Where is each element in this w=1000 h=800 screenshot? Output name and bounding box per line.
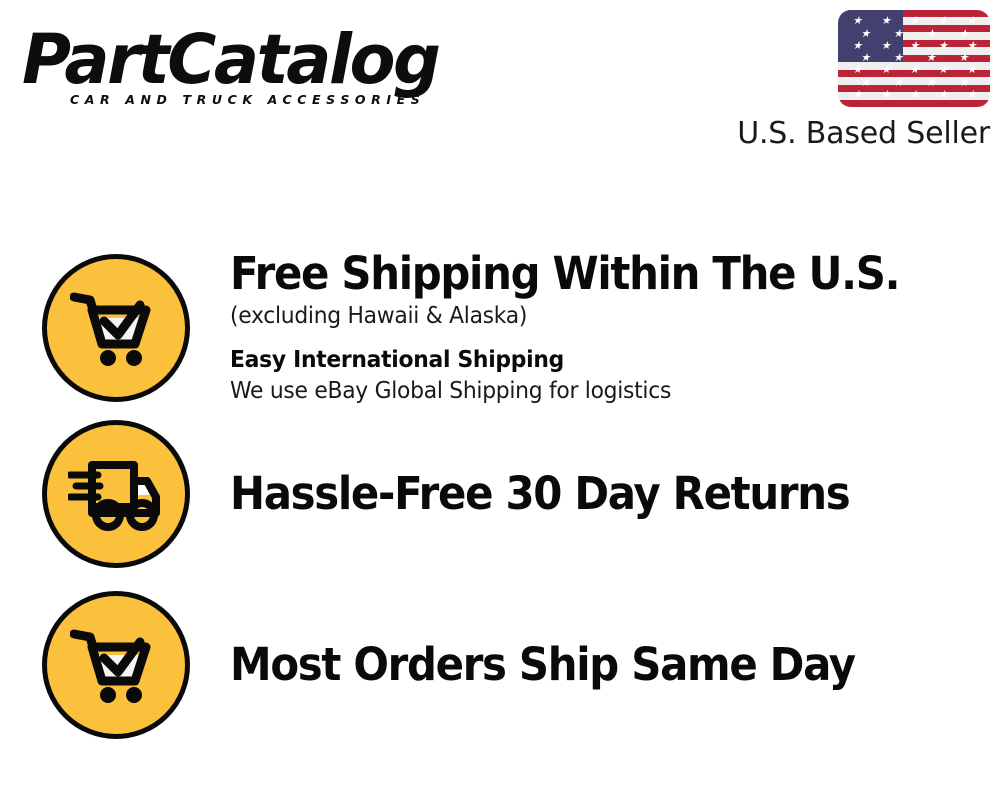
benefit-subtitle-strong: Easy International Shipping xyxy=(230,345,935,376)
shopping-cart-check-icon xyxy=(42,254,190,402)
benefit-row: Free Shipping Within The U.S. (excluding… xyxy=(42,249,972,407)
benefit-row: Hassle-Free 30 Day Returns xyxy=(42,420,972,568)
benefit-title: Hassle-Free 30 Day Returns xyxy=(230,469,920,519)
benefit-text-block: Free Shipping Within The U.S. (excluding… xyxy=(190,249,972,407)
us-flag-icon: ★★★★★ ★★★★ ★★★★★ ★★★★ ★★★★★ ★★★★ ★★★★★ xyxy=(838,10,990,107)
benefit-text-block: Most Orders Ship Same Day xyxy=(190,640,972,690)
shopping-cart-check-icon xyxy=(42,591,190,739)
brand-logo[interactable]: PartCatalog CAR AND TRUCK ACCESSORIES xyxy=(22,24,492,114)
seller-label: U.S. Based Seller xyxy=(714,116,990,151)
brand-wordmark: PartCatalog xyxy=(22,24,478,96)
delivery-truck-icon xyxy=(42,420,190,568)
benefit-title: Free Shipping Within The U.S. xyxy=(230,249,920,299)
benefit-row: Most Orders Ship Same Day xyxy=(42,591,972,739)
us-based-seller-badge: ★★★★★ ★★★★ ★★★★★ ★★★★ ★★★★★ ★★★★ ★★★★★ U… xyxy=(714,10,990,151)
benefit-subtitle-detail: We use eBay Global Shipping for logistic… xyxy=(230,376,935,407)
page-header: PartCatalog CAR AND TRUCK ACCESSORIES ★★… xyxy=(0,0,1000,175)
benefit-text-block: Hassle-Free 30 Day Returns xyxy=(190,469,972,519)
flag-stars: ★★★★★ ★★★★ ★★★★★ ★★★★ ★★★★★ ★★★★ ★★★★★ xyxy=(838,10,990,107)
benefit-subtitle: (excluding Hawaii & Alaska) xyxy=(230,301,935,332)
benefit-title: Most Orders Ship Same Day xyxy=(230,640,920,690)
